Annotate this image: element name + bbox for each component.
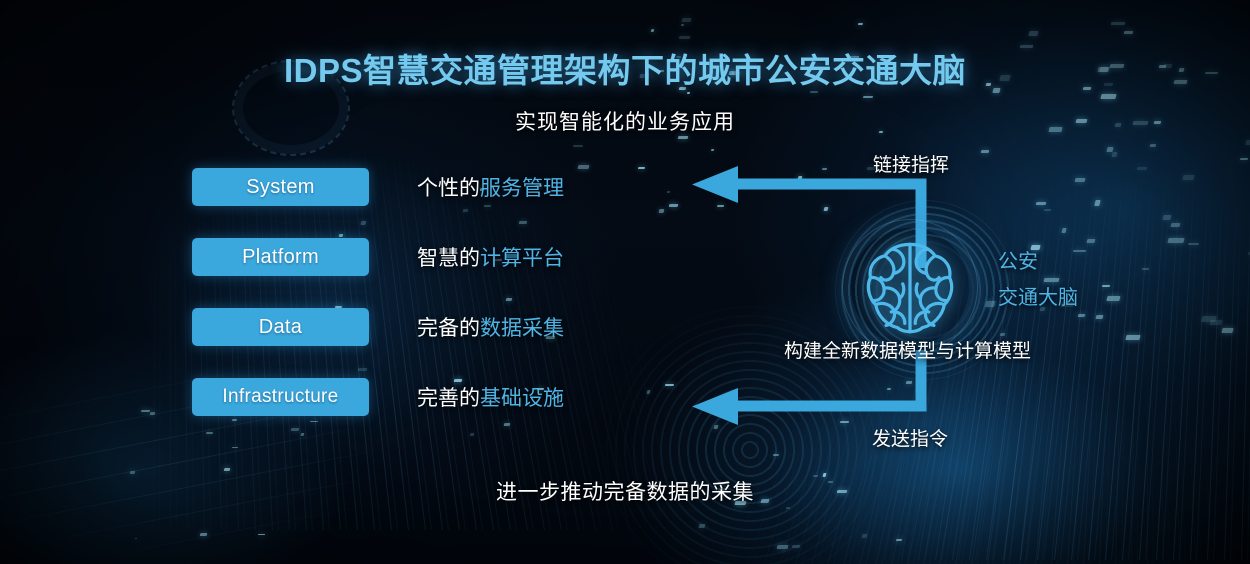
- flow-label-send-command: 发送指令: [872, 424, 948, 451]
- layer-description-prefix: 智慧的: [417, 247, 480, 270]
- brain-flow-diagram: 链接指挥 发送指令 构建全新数据模型与计算模型 公安 交通大脑: [680, 140, 1100, 470]
- layer-description-prefix: 完备的: [417, 317, 480, 340]
- layer-description-highlight: 计算平台: [480, 247, 564, 270]
- layer-description-data: 完备的数据采集: [417, 312, 564, 342]
- brand-line-2: 交通大脑: [998, 280, 1078, 316]
- footer-note: 进一步推动完备数据的采集: [0, 476, 1250, 506]
- layer-pill-label: Data: [259, 316, 302, 339]
- layer-description-highlight: 数据采集: [480, 317, 564, 340]
- brain-brand-label: 公安 交通大脑: [998, 244, 1078, 316]
- layer-pill-platform[interactable]: Platform: [192, 238, 369, 276]
- layer-description-prefix: 个性的: [417, 177, 480, 200]
- layer-description-infrastructure: 完善的基础设施: [417, 382, 564, 412]
- flow-label-link-command: 链接指挥: [873, 150, 949, 177]
- layer-pill-system[interactable]: System: [192, 168, 369, 206]
- layer-pill-label: Platform: [242, 246, 319, 269]
- layer-description-system: 个性的服务管理: [417, 172, 564, 202]
- flow-label-model: 构建全新数据模型与计算模型: [784, 336, 1031, 363]
- layer-row-platform: Platform 智慧的计算平台: [192, 238, 592, 308]
- layer-pill-infrastructure[interactable]: Infrastructure: [192, 378, 369, 416]
- layer-pill-data[interactable]: Data: [192, 308, 369, 346]
- page-subtitle: 实现智能化的业务应用: [0, 106, 1250, 136]
- brand-line-1: 公安: [998, 244, 1078, 280]
- slide-canvas: IDPS智慧交通管理架构下的城市公安交通大脑 实现智能化的业务应用 System…: [0, 0, 1250, 564]
- brain-icon: [858, 235, 962, 339]
- architecture-layer-stack: System 个性的服务管理 Platform 智慧的计算平台 Data: [192, 168, 592, 448]
- layer-pill-label: System: [246, 176, 314, 199]
- page-title: IDPS智慧交通管理架构下的城市公安交通大脑: [0, 44, 1250, 92]
- layer-row-system: System 个性的服务管理: [192, 168, 592, 238]
- layer-description-platform: 智慧的计算平台: [417, 242, 564, 272]
- layer-row-infrastructure: Infrastructure 完善的基础设施: [192, 378, 592, 448]
- layer-description-highlight: 服务管理: [480, 177, 564, 200]
- layer-description-prefix: 完善的: [417, 387, 480, 410]
- layer-pill-label: Infrastructure: [222, 386, 338, 408]
- brain-icon-container: [858, 235, 962, 339]
- layer-description-highlight: 基础设施: [480, 387, 564, 410]
- layer-row-data: Data 完备的数据采集: [192, 308, 592, 378]
